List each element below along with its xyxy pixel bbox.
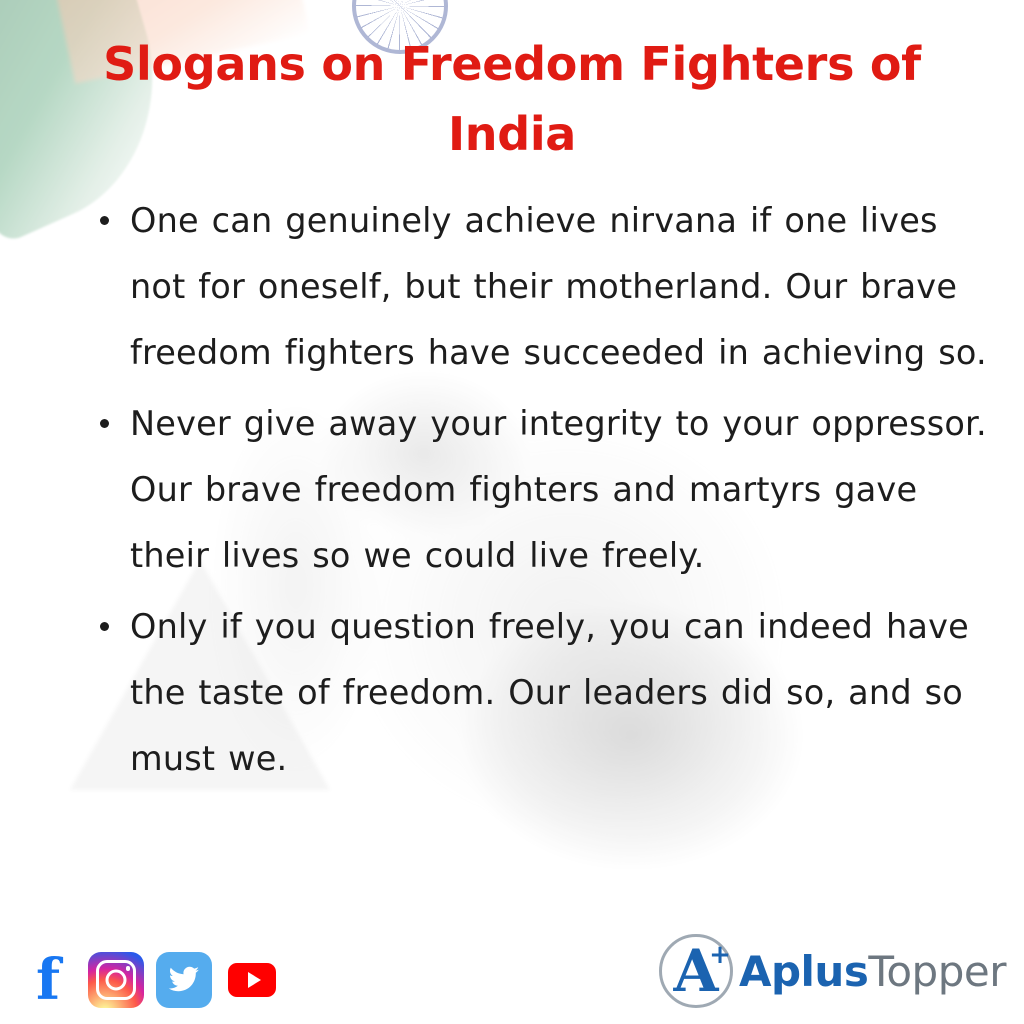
brand-name-second: Topper: [868, 947, 1006, 996]
brand-name: AplusTopper: [739, 947, 1006, 996]
brand-logo[interactable]: A + AplusTopper: [659, 934, 1006, 1008]
slogan-list: One can genuinely achieve nirvana if one…: [0, 188, 1024, 793]
slogan-poster: Slogans on Freedom Fighters of India One…: [0, 0, 1024, 1024]
youtube-play-button: [228, 963, 276, 997]
brand-mark: A +: [659, 934, 733, 1008]
brand-plus-icon: +: [709, 942, 731, 968]
list-item: Never give away your integrity to your o…: [96, 391, 988, 590]
twitter-bird-glyph: [168, 966, 200, 994]
youtube-play-triangle: [248, 972, 261, 988]
poster-content: Slogans on Freedom Fighters of India One…: [0, 0, 1024, 793]
page-title: Slogans on Freedom Fighters of India: [0, 0, 1024, 170]
instagram-icon[interactable]: [88, 952, 144, 1008]
footer: f A +: [0, 920, 1024, 1024]
list-item: Only if you question freely, you can ind…: [96, 594, 988, 793]
facebook-icon[interactable]: f: [20, 952, 76, 1008]
list-item: One can genuinely achieve nirvana if one…: [96, 188, 988, 387]
instagram-lens-dot: [126, 966, 131, 971]
facebook-glyph: f: [36, 954, 60, 1006]
brand-name-first: Aplus: [739, 947, 868, 996]
youtube-icon[interactable]: [224, 952, 280, 1008]
twitter-icon[interactable]: [156, 952, 212, 1008]
social-links: f: [20, 952, 280, 1008]
instagram-camera-shape: [96, 960, 136, 1000]
